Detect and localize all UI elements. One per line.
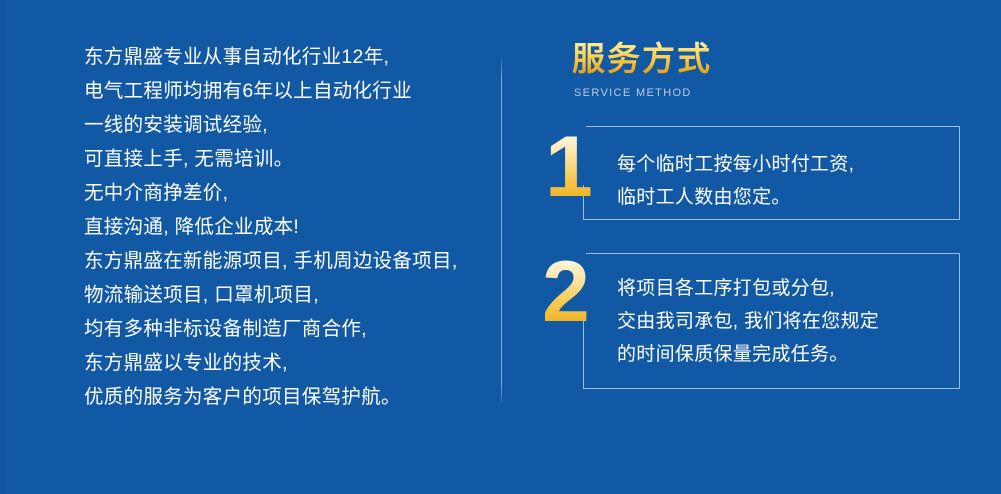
description-line: 电气工程师均拥有6年以上自动化行业 bbox=[84, 74, 484, 108]
description-line: 东方鼎盛专业从事自动化行业12年, bbox=[84, 40, 484, 74]
item-number-badge: 1 bbox=[545, 124, 592, 210]
description-line: 直接沟通, 降低企业成本! bbox=[84, 210, 484, 244]
description-line: 均有多种非标设备制造厂商合作, bbox=[84, 312, 484, 346]
description-line: 东方鼎盛在新能源项目, 手机周边设备项目, bbox=[84, 244, 484, 278]
description-line: 物流输送项目, 口罩机项目, bbox=[84, 278, 484, 312]
service-method-heading-block: 服务方式 SERVICE METHOD bbox=[572, 40, 972, 100]
item-text-line: 临时工人数由您定。 bbox=[617, 181, 933, 214]
item-text-box: 每个临时工按每小时付工资, 临时工人数由您定。 bbox=[583, 126, 960, 220]
description-line: 东方鼎盛以专业的技术, bbox=[84, 346, 484, 380]
vertical-divider bbox=[501, 58, 502, 403]
item-number-badge: 2 bbox=[542, 249, 589, 335]
service-method-list: 1 每个临时工按每小时付工资, 临时工人数由您定。 2 将项目各工序打包或分包,… bbox=[540, 126, 960, 389]
description-line: 一线的安装调试经验, bbox=[84, 108, 484, 142]
service-method-poster: 东方鼎盛专业从事自动化行业12年, 电气工程师均拥有6年以上自动化行业 一线的安… bbox=[0, 0, 1001, 494]
list-item: 1 每个临时工按每小时付工资, 临时工人数由您定。 bbox=[540, 126, 960, 220]
company-description-block: 东方鼎盛专业从事自动化行业12年, 电气工程师均拥有6年以上自动化行业 一线的安… bbox=[84, 40, 484, 414]
description-line: 无中介商挣差价, bbox=[84, 176, 484, 210]
section-title: 服务方式 bbox=[572, 40, 712, 78]
item-text-box: 将项目各工序打包或分包, 交由我司承包, 我们将在您规定 的时间保质保量完成任务… bbox=[583, 253, 960, 389]
list-item: 2 将项目各工序打包或分包, 交由我司承包, 我们将在您规定 的时间保质保量完成… bbox=[540, 253, 960, 389]
item-text-line: 的时间保质保量完成任务。 bbox=[617, 338, 933, 371]
left-edge-strip bbox=[0, 0, 7, 494]
item-text-line: 交由我司承包, 我们将在您规定 bbox=[617, 305, 933, 338]
description-line: 优质的服务为客户的项目保驾护航。 bbox=[84, 380, 484, 414]
section-subtitle: SERVICE METHOD bbox=[574, 87, 972, 100]
item-text-line: 将项目各工序打包或分包, bbox=[617, 272, 933, 305]
item-text-line: 每个临时工按每小时付工资, bbox=[617, 148, 933, 181]
description-line: 可直接上手, 无需培训。 bbox=[84, 142, 484, 176]
